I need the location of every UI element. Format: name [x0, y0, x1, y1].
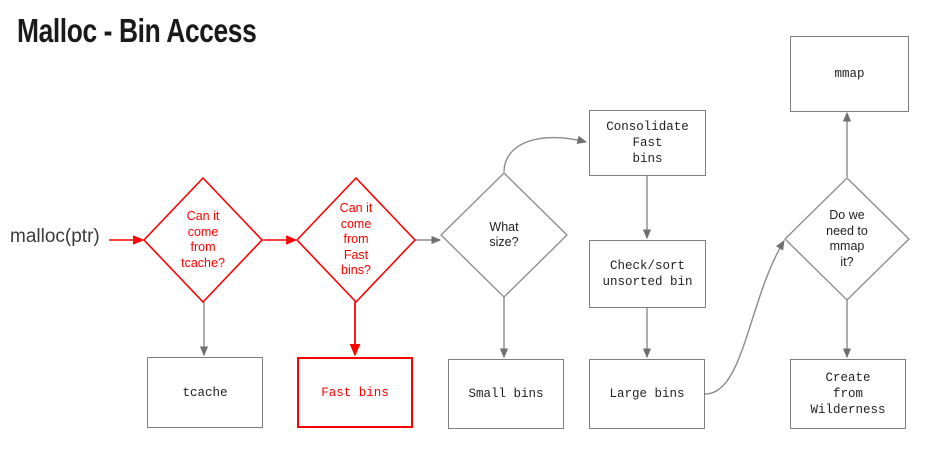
box-fast-bins[interactable]: Fast bins [297, 357, 413, 428]
diamond-shape-tcache [143, 177, 263, 303]
diamond-shape-size [440, 172, 568, 298]
box-check-sort-unsorted-bin[interactable]: Check/sort unsorted bin [589, 240, 706, 308]
box-mmap[interactable]: mmap [790, 36, 909, 112]
box-large-bins[interactable]: Large bins [589, 359, 705, 429]
box-tcache[interactable]: tcache [147, 357, 263, 428]
box-consolidate-fast-bins[interactable]: Consolidate Fast bins [589, 110, 706, 176]
box-create-from-wilderness[interactable]: Create from Wilderness [790, 359, 906, 429]
edge-size-decision-to-consolidate [504, 138, 586, 172]
diamond-shape-mmap [784, 177, 910, 301]
diamond-shape-fastbins [296, 177, 416, 303]
decision-tcache[interactable]: Can it come from tcache? [143, 177, 263, 303]
box-small-bins[interactable]: Small bins [448, 359, 564, 429]
flowchart-canvas: Malloc - Bin Access malloc(ptr) [0, 0, 931, 450]
decision-mmap[interactable]: Do we need to mmap it? [784, 177, 910, 301]
decision-fastbins[interactable]: Can it come from Fast bins? [296, 177, 416, 303]
decision-size[interactable]: What size? [440, 172, 568, 298]
edge-largebins-to-mmap-decision [704, 241, 784, 394]
